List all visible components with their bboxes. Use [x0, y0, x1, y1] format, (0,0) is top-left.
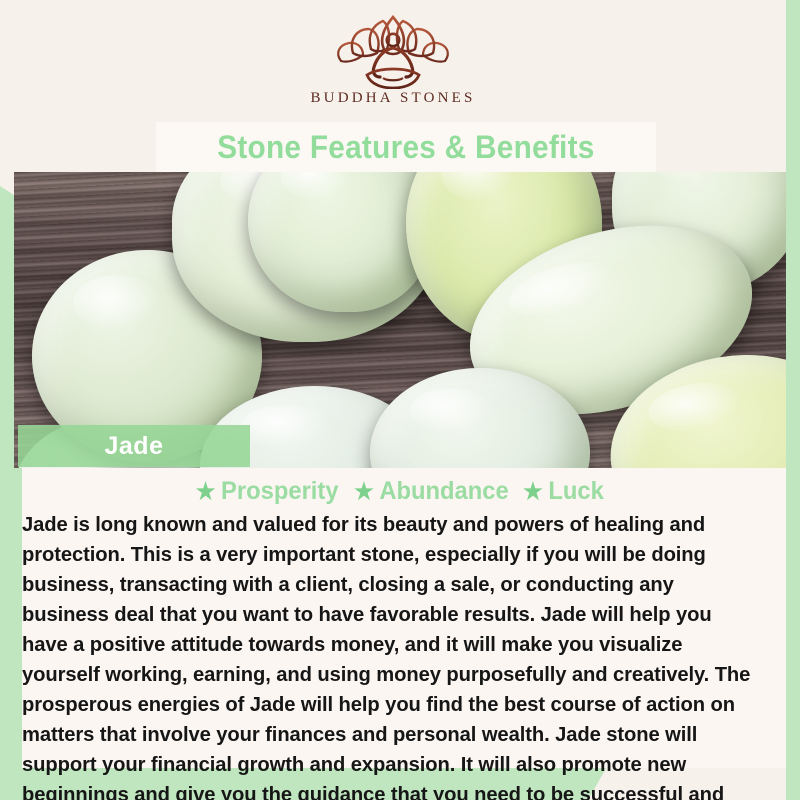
- decorative-strip-right-edge: [786, 0, 800, 800]
- star-icon: ★: [523, 480, 543, 503]
- keyword-label: Abundance: [380, 477, 509, 506]
- star-icon: ★: [354, 480, 374, 503]
- lotus-meditation-icon: [327, 15, 459, 89]
- star-icon: ★: [196, 480, 216, 503]
- brand-header: BUDDHA STONES: [0, 0, 786, 122]
- keyword-prosperity: ★ Prosperity: [196, 477, 339, 506]
- keyword-list: ★ Prosperity ★ Abundance ★ Luck: [22, 474, 776, 508]
- keyword-luck: ★ Luck: [523, 477, 604, 506]
- keyword-label: Luck: [548, 477, 603, 506]
- stone-description: Jade is long known and valued for its be…: [22, 508, 765, 800]
- content-panel: ★ Prosperity ★ Abundance ★ Luck Jade is …: [22, 468, 786, 768]
- page-title: Stone Features & Benefits: [217, 129, 594, 166]
- stone-photo: [14, 172, 786, 468]
- keyword-label: Prosperity: [221, 477, 338, 506]
- stone-name-banner: Jade: [18, 425, 250, 467]
- title-banner: Stone Features & Benefits: [156, 122, 656, 172]
- brand-wordmark: BUDDHA STONES: [310, 90, 475, 107]
- stone-features-poster: BUDDHA STONES Stone Features & Benefits …: [0, 0, 800, 800]
- stone-name: Jade: [105, 432, 164, 461]
- decorative-strip-left-text: [0, 466, 22, 766]
- keyword-abundance: ★ Abundance: [354, 477, 509, 506]
